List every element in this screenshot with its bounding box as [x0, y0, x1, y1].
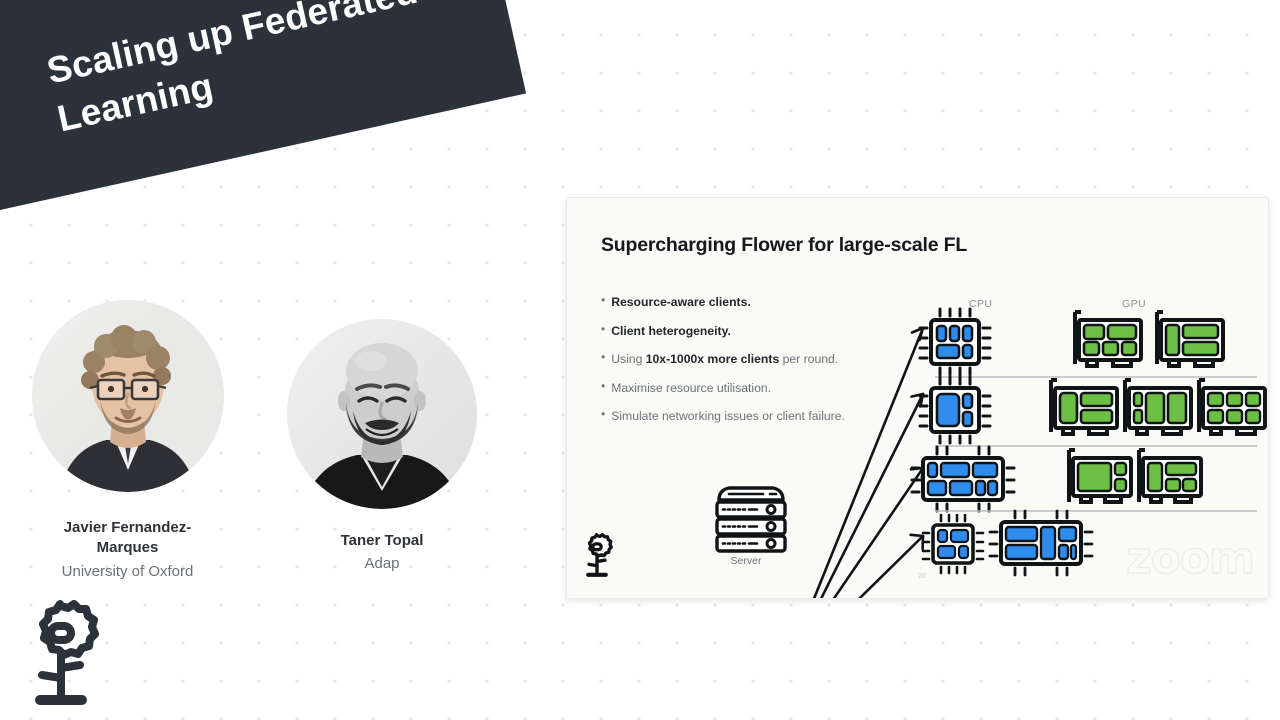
- arrow-to-row-2: [807, 394, 923, 598]
- cpu-icon: [920, 309, 990, 375]
- slide-panel[interactable]: Supercharging Flower for large-scale FL …: [566, 197, 1269, 599]
- gpu-icon: [1139, 450, 1201, 502]
- gpu-icon: [1125, 380, 1191, 434]
- speaker-org-1: University of Oxford: [62, 562, 194, 582]
- zoom-watermark: zoom: [1126, 533, 1254, 584]
- speaker-name-1: Javier Fernandez-Marques: [43, 518, 213, 559]
- flower-logo-icon: [18, 600, 104, 710]
- connection-arrows: [807, 328, 923, 598]
- speaker-name-2: Taner Topal: [341, 531, 424, 551]
- arrow-to-row-4: [807, 535, 923, 598]
- portrait-javier: [32, 300, 224, 492]
- gpu-icon: [1051, 380, 1117, 434]
- portrait-taner: [287, 319, 477, 509]
- arrow-to-row-1: [807, 328, 923, 598]
- cpu-icon: [923, 515, 983, 573]
- speaker-card-1: Javier Fernandez-Marques University of O…: [0, 300, 255, 582]
- flower-logo: [18, 600, 104, 715]
- gpu-icon: [1199, 380, 1265, 434]
- cpu-icon: [912, 447, 1014, 511]
- cpu-icon: [920, 377, 990, 443]
- gpu-icon: [1075, 312, 1141, 366]
- avatar-javier: [32, 300, 224, 492]
- arrow-to-row-3: [807, 468, 923, 598]
- speaker-list: Javier Fernandez-Marques University of O…: [0, 300, 520, 582]
- cpu-icon: [990, 511, 1092, 575]
- server-icon: [717, 488, 785, 551]
- speaker-org-2: Adap: [364, 554, 399, 574]
- flower-logo-slide: [579, 533, 615, 584]
- speaker-card-2: Taner Topal Adap: [277, 319, 487, 575]
- flower-logo-icon: [579, 533, 615, 579]
- gpu-icon: [1157, 312, 1223, 366]
- gpu-icon: [1069, 450, 1131, 502]
- avatar-taner: [287, 319, 477, 509]
